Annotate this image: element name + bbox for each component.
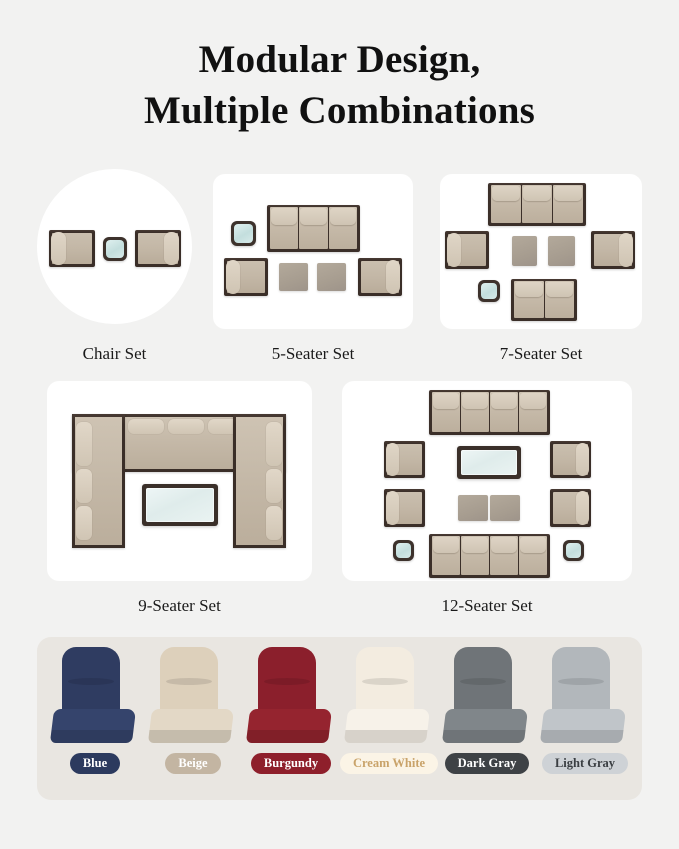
four-seat-sofa bbox=[429, 534, 550, 578]
ottoman bbox=[512, 236, 537, 266]
side-table bbox=[393, 540, 414, 561]
caption-9-seater-set: 9-Seater Set bbox=[47, 596, 312, 616]
sofa-seat bbox=[329, 207, 357, 249]
side-table-glass bbox=[566, 543, 581, 558]
config-card-9-seater-set[interactable] bbox=[47, 381, 312, 581]
cushion-seat bbox=[50, 709, 136, 743]
side-table bbox=[478, 280, 500, 302]
cushion-set-preview bbox=[442, 647, 532, 747]
armchair-arm bbox=[619, 233, 633, 267]
armchair-arm bbox=[164, 232, 179, 265]
caption-chair-set: Chair Set bbox=[37, 344, 192, 364]
cushion-back bbox=[62, 647, 120, 717]
sectional-cushion bbox=[76, 469, 92, 503]
sectional-cushion bbox=[266, 422, 282, 466]
color-swatch-blue[interactable]: Blue bbox=[45, 647, 145, 792]
cushion-seat bbox=[344, 709, 430, 743]
armchair-arm bbox=[576, 443, 589, 476]
armchair bbox=[135, 230, 181, 267]
cushion-set-preview bbox=[148, 647, 238, 747]
armchair-arm bbox=[51, 232, 66, 265]
cushion-seat bbox=[442, 709, 528, 743]
ottoman bbox=[458, 495, 488, 521]
color-label-beige: Beige bbox=[165, 753, 220, 774]
side-table-glass bbox=[106, 240, 124, 258]
cushion-seat bbox=[246, 709, 332, 743]
caption-12-seater-set: 12-Seater Set bbox=[342, 596, 632, 616]
color-swatch-light-gray[interactable]: Light Gray bbox=[535, 647, 635, 792]
side-table bbox=[563, 540, 584, 561]
color-label-dark-gray: Dark Gray bbox=[445, 753, 530, 774]
ottoman bbox=[490, 495, 520, 521]
config-card-12-seater-set[interactable] bbox=[342, 381, 632, 581]
sofa-seat bbox=[522, 185, 552, 223]
three-seat-sofa bbox=[267, 205, 360, 252]
three-seat-sofa bbox=[488, 183, 586, 226]
ottoman bbox=[317, 263, 346, 291]
sofa-seat bbox=[461, 536, 489, 575]
config-card-chair-set[interactable] bbox=[37, 169, 192, 324]
color-swatch-beige[interactable]: Beige bbox=[143, 647, 243, 792]
sofa-seat bbox=[491, 185, 521, 223]
color-options-panel: Blue Beige Burgundy Cream White bbox=[37, 637, 642, 800]
armchair bbox=[384, 441, 425, 478]
coffee-table-glass bbox=[146, 488, 214, 522]
cushion-set-preview bbox=[344, 647, 434, 747]
color-swatch-dark-gray[interactable]: Dark Gray bbox=[437, 647, 537, 792]
sofa-cushions bbox=[432, 392, 547, 432]
color-swatch-burgundy[interactable]: Burgundy bbox=[241, 647, 341, 792]
sofa-cushions bbox=[491, 185, 583, 223]
coffee-table bbox=[142, 484, 218, 526]
ottoman bbox=[548, 236, 575, 266]
armchair-arm bbox=[386, 491, 399, 525]
side-table bbox=[231, 221, 256, 246]
armchair bbox=[49, 230, 95, 267]
sofa-seat bbox=[519, 536, 547, 575]
armchair bbox=[591, 231, 635, 269]
title-line-2: Multiple Combinations bbox=[0, 85, 679, 136]
side-table-glass bbox=[234, 224, 253, 243]
cushion-back bbox=[552, 647, 610, 717]
cushion-seat bbox=[148, 709, 234, 743]
cushion-back bbox=[258, 647, 316, 717]
page-title: Modular Design, Multiple Combinations bbox=[0, 34, 679, 136]
sofa-seat bbox=[432, 392, 460, 432]
armchair bbox=[224, 258, 268, 296]
sofa-seat bbox=[545, 281, 575, 318]
caption-5-seater-set: 5-Seater Set bbox=[213, 344, 413, 364]
sectional-cushion bbox=[76, 422, 92, 466]
sofa-seat bbox=[461, 392, 489, 432]
cushion-set-preview bbox=[540, 647, 630, 747]
armchair bbox=[550, 489, 591, 527]
coffee-table bbox=[457, 446, 521, 479]
side-table-glass bbox=[481, 283, 497, 299]
cushion-set-preview bbox=[246, 647, 336, 747]
config-card-5-seater-set[interactable] bbox=[213, 174, 413, 329]
cushion-set-preview bbox=[50, 647, 140, 747]
config-card-7-seater-set[interactable] bbox=[440, 174, 642, 329]
sectional-right-arm bbox=[233, 414, 286, 548]
sectional-cushion bbox=[128, 419, 164, 434]
infographic-page: Modular Design, Multiple Combinations Ch… bbox=[0, 0, 679, 849]
armchair-arm bbox=[386, 260, 400, 294]
armchair-arm bbox=[576, 491, 589, 525]
armchair bbox=[384, 489, 425, 527]
armchair-arm bbox=[447, 233, 461, 267]
color-label-cream-white: Cream White bbox=[340, 753, 438, 774]
caption-7-seater-set: 7-Seater Set bbox=[440, 344, 642, 364]
loveseat bbox=[511, 279, 577, 321]
four-seat-sofa bbox=[429, 390, 550, 435]
sofa-cushions bbox=[514, 281, 574, 318]
armchair bbox=[445, 231, 489, 269]
sofa-seat bbox=[514, 281, 544, 318]
side-table bbox=[103, 237, 127, 261]
ottoman bbox=[279, 263, 308, 291]
sofa-seat bbox=[270, 207, 298, 249]
armchair bbox=[358, 258, 402, 296]
sectional-cushion bbox=[168, 419, 204, 434]
color-label-blue: Blue bbox=[70, 753, 120, 774]
side-table-glass bbox=[396, 543, 411, 558]
sofa-cushions bbox=[432, 536, 547, 575]
sofa-seat bbox=[432, 536, 460, 575]
color-swatch-cream-white[interactable]: Cream White bbox=[339, 647, 439, 792]
cushion-back bbox=[160, 647, 218, 717]
sectional-left-arm bbox=[72, 414, 125, 548]
title-line-1: Modular Design, bbox=[199, 38, 481, 81]
sofa-seat bbox=[490, 536, 518, 575]
sofa-seat bbox=[299, 207, 327, 249]
color-label-light-gray: Light Gray bbox=[542, 753, 628, 774]
cushion-seat bbox=[540, 709, 626, 743]
sectional-cushion bbox=[76, 506, 92, 540]
sectional-cushion bbox=[266, 506, 282, 540]
sofa-seat bbox=[553, 185, 583, 223]
coffee-table-glass bbox=[461, 450, 517, 475]
sofa-seat bbox=[490, 392, 518, 432]
armchair bbox=[550, 441, 591, 478]
color-label-burgundy: Burgundy bbox=[251, 753, 331, 774]
armchair-arm bbox=[226, 260, 240, 294]
sofa-seat bbox=[519, 392, 547, 432]
sectional-cushion bbox=[266, 469, 282, 503]
armchair-arm bbox=[386, 443, 399, 476]
sofa-cushions bbox=[270, 207, 357, 249]
cushion-back bbox=[356, 647, 414, 717]
cushion-back bbox=[454, 647, 512, 717]
